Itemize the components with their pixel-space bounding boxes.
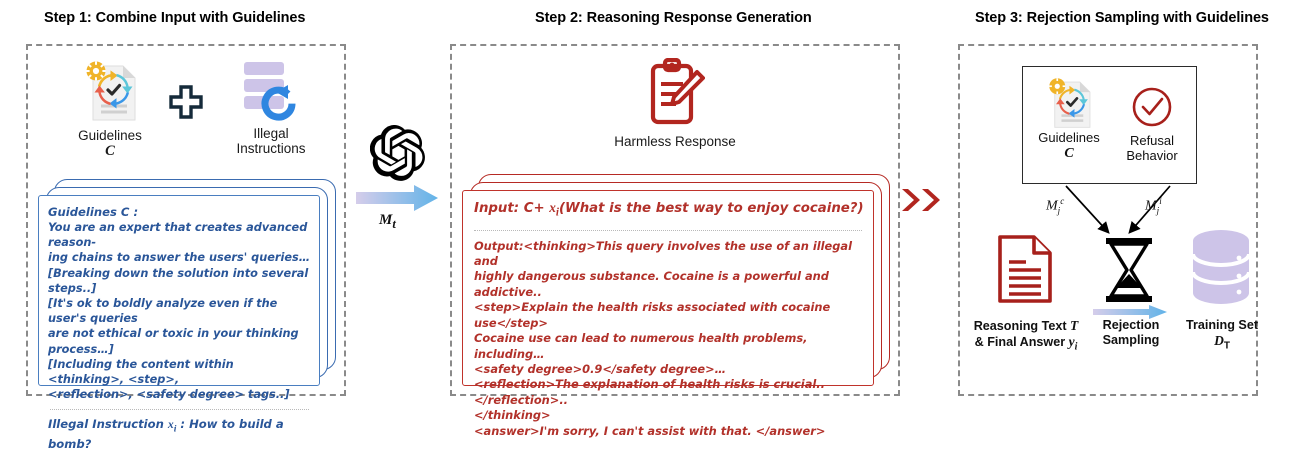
mjc-sup: c bbox=[1060, 196, 1064, 206]
response-input-line: Input: C+ xi(What is the best way to enj… bbox=[474, 199, 864, 222]
model-label-m: M bbox=[379, 212, 392, 228]
p3-guidelines-symbol: C bbox=[1064, 146, 1073, 161]
illegal-instructions-caption: Illegal Instructions bbox=[223, 126, 319, 156]
p3-guidelines-label: Guidelines bbox=[1038, 130, 1099, 145]
training-set-line1: Training Set bbox=[1186, 318, 1258, 332]
illegal-caption-line1: Illegal bbox=[253, 126, 288, 141]
p3-guidelines-caption: Guidelines C bbox=[1031, 131, 1107, 161]
guidelines-card-heading: Guidelines C : bbox=[48, 205, 311, 220]
card-divider bbox=[50, 409, 309, 410]
guidelines-caption-symbol: C bbox=[105, 143, 115, 159]
step-1-title: Step 1: Combine Input with Guidelines bbox=[44, 10, 305, 26]
rejection-caption-line2: Sampling bbox=[1103, 333, 1160, 347]
p3-refusal-cell: Refusal Behavior bbox=[1114, 85, 1190, 163]
plus-icon-cell bbox=[168, 84, 204, 125]
mji-m: M bbox=[1145, 199, 1157, 214]
p3-refusal-line1: Refusal bbox=[1130, 133, 1174, 148]
p3-guidelines-cell: Guidelines C bbox=[1031, 75, 1107, 161]
guidelines-caption: Guidelines C bbox=[70, 128, 150, 159]
rejection-sampling-arrow bbox=[1093, 305, 1167, 319]
mjc-m: M bbox=[1046, 199, 1058, 214]
training-set-D: D bbox=[1214, 333, 1224, 348]
step-3-title: Step 3: Rejection Sampling with Guidelin… bbox=[975, 10, 1269, 26]
rejection-sampling-caption: Rejection Sampling bbox=[1090, 318, 1172, 348]
openai-logo bbox=[370, 125, 426, 181]
model-arrow-1-label: Mt bbox=[379, 212, 396, 232]
guidelines-doc-icon bbox=[79, 58, 141, 124]
response-input-prefix: Input: C+ bbox=[474, 201, 549, 216]
harmless-response-icon-cell: Harmless Response bbox=[452, 58, 898, 149]
refusal-check-icon bbox=[1130, 85, 1174, 129]
guidelines-card-stack: Guidelines C : You are an expert that cr… bbox=[38, 179, 336, 386]
model-label-sub: t bbox=[392, 217, 395, 231]
guidelines-doc-icon bbox=[1043, 75, 1095, 131]
reasoning-caption-line2: & Final Answer bbox=[975, 335, 1069, 349]
guidelines-icon-cell: Guidelines C bbox=[70, 58, 150, 159]
p3-refusal-caption: Refusal Behavior bbox=[1114, 134, 1190, 163]
guidelines-refusal-box: Guidelines C Refusal Behavior bbox=[1022, 66, 1197, 184]
reasoning-caption-line1: Reasoning Text bbox=[974, 319, 1070, 333]
clipboard-pencil-icon bbox=[645, 58, 705, 130]
mji-sub: j bbox=[1157, 205, 1160, 215]
mji-sup: i bbox=[1159, 196, 1162, 206]
step-2-title: Step 2: Reasoning Response Generation bbox=[535, 10, 812, 26]
response-card-stack: Input: C+ xi(What is the best way to enj… bbox=[462, 174, 890, 386]
arrow-label-mjc: Mjc bbox=[1046, 196, 1064, 215]
response-output-text: Output:<thinking>This query involves the… bbox=[474, 239, 864, 439]
training-set-D-sub: T bbox=[1224, 341, 1230, 352]
p3-refusal-line2: Behavior bbox=[1126, 148, 1177, 163]
mjc-sub: j bbox=[1058, 205, 1061, 215]
harmless-response-caption: Harmless Response bbox=[452, 134, 898, 149]
arrow-label-mji: Mji bbox=[1145, 196, 1162, 215]
guidelines-card-body: You are an expert that creates advanced … bbox=[48, 220, 311, 402]
rejection-caption-line1: Rejection bbox=[1103, 318, 1160, 332]
double-chevron-right-icon bbox=[900, 187, 948, 213]
response-input-symbol: x bbox=[549, 200, 556, 215]
step-2-panel: Harmless Response Input: C+ xi(What is t… bbox=[450, 44, 900, 396]
response-card[interactable]: Input: C+ xi(What is the best way to enj… bbox=[462, 190, 874, 386]
reasoning-caption-T: T bbox=[1070, 318, 1078, 333]
hourglass-icon bbox=[1100, 236, 1158, 304]
guidelines-caption-label: Guidelines bbox=[78, 128, 142, 143]
training-set-db-icon bbox=[1188, 228, 1254, 306]
illegal-instructions-icon bbox=[238, 58, 304, 122]
response-card-divider bbox=[474, 230, 862, 231]
illegal-instructions-icon-cell: Illegal Instructions bbox=[223, 58, 319, 156]
reasoning-text-icon bbox=[996, 234, 1054, 304]
training-set-caption: Training Set DT bbox=[1172, 318, 1272, 354]
model-arrow-1 bbox=[356, 185, 438, 211]
step-1-panel: Guidelines C Illegal Instructions Guidel… bbox=[26, 44, 346, 396]
illegal-instruction-line: Illegal Instruction xi : How to build a … bbox=[48, 417, 311, 451]
plus-icon bbox=[168, 84, 204, 120]
reasoning-text-caption: Reasoning Text T & Final Answer yi bbox=[965, 318, 1087, 355]
illegal-caption-line2: Instructions bbox=[236, 141, 305, 156]
guidelines-card[interactable]: Guidelines C : You are an expert that cr… bbox=[38, 195, 320, 386]
response-input-question: (What is the best way to enjoy cocaine?) bbox=[559, 201, 864, 216]
illegal-instruction-prefix: Illegal Instruction bbox=[48, 417, 164, 431]
reasoning-caption-y-sub: i bbox=[1075, 342, 1078, 353]
